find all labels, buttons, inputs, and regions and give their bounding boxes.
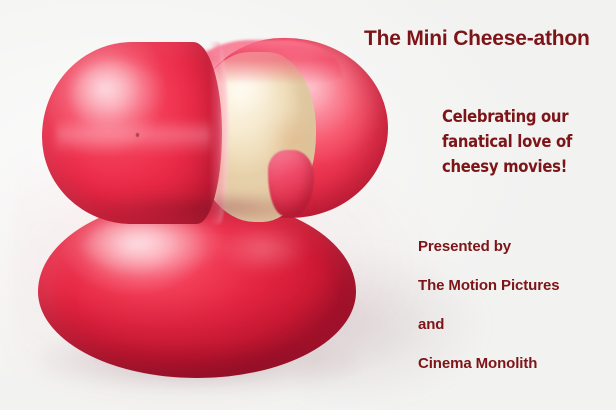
tagline-line-1: Celebrating our	[442, 104, 572, 129]
credits-block: Presented by The Motion Pictures and Cin…	[418, 238, 559, 372]
credits-conjunction: and	[418, 316, 559, 333]
wax-left-sheen-band	[56, 118, 211, 154]
tagline-line-3: cheesy movies!	[442, 154, 572, 179]
poster-canvas: The Mini Cheese-athon Celebrating our fa…	[0, 0, 616, 410]
credits-presenter-secondary: Cinema Monolith	[418, 355, 559, 372]
tagline-line-2: fanatical love of	[442, 129, 572, 154]
credits-presented-by: Presented by	[418, 238, 559, 255]
page-title: The Mini Cheese-athon	[364, 27, 590, 51]
bottom-cheese-wheel	[38, 198, 356, 378]
bottom-wheel-highlight-secondary	[216, 227, 311, 274]
wheel-contact-shadow	[100, 196, 310, 222]
cheese-stack-photo	[0, 0, 420, 410]
tagline-block: Celebrating our fanatical love of cheesy…	[442, 104, 572, 179]
wax-blemish-speck	[136, 133, 139, 137]
credits-presenter-primary: The Motion Pictures	[418, 277, 559, 294]
bottom-wheel-highlight	[83, 216, 229, 277]
